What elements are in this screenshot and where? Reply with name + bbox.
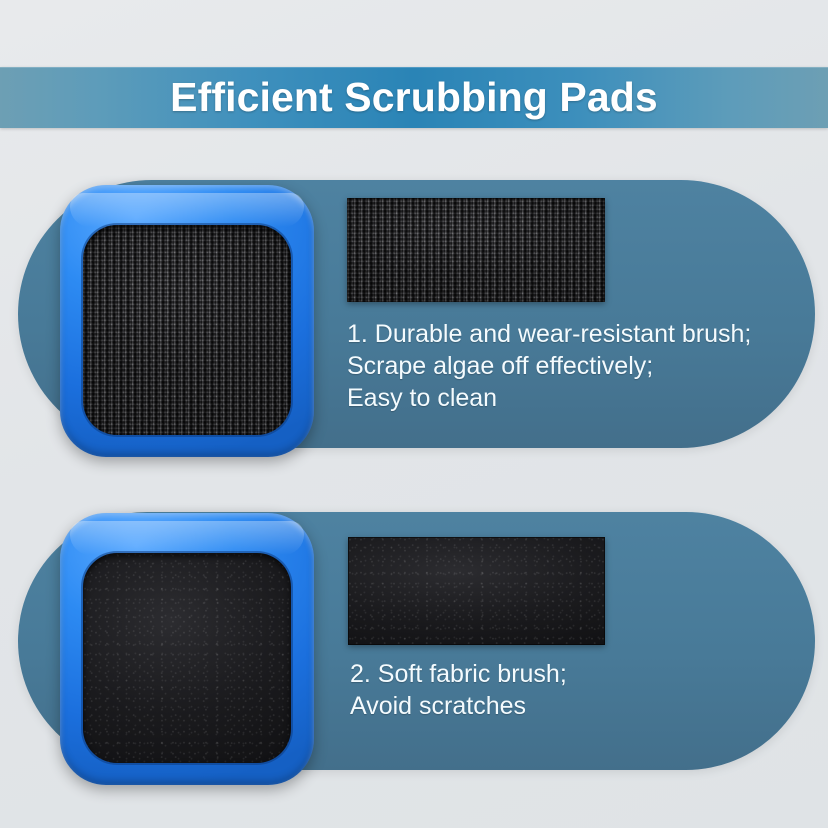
feature-caption-1: 1. Durable and wear-resistant brush; Scr… — [347, 318, 751, 414]
pad-blue-frame — [60, 185, 314, 457]
caption-line: 1. Durable and wear-resistant brush; — [347, 318, 751, 350]
pad-bristle-surface — [83, 225, 291, 435]
caption-line: Easy to clean — [347, 382, 751, 414]
bristle-texture-closeup-image — [347, 198, 605, 302]
caption-line: Scrape algae off effectively; — [347, 350, 751, 382]
scrubbing-pad-fabric-image — [60, 513, 314, 785]
caption-line: 2. Soft fabric brush; — [350, 658, 567, 690]
pad-blue-frame — [60, 513, 314, 785]
fabric-texture-closeup-image — [348, 537, 605, 645]
header-banner: Efficient Scrubbing Pads — [0, 67, 828, 128]
product-infographic: Efficient Scrubbing Pads 1. Durable and … — [0, 0, 828, 828]
page-title: Efficient Scrubbing Pads — [170, 77, 658, 118]
scrubbing-pad-bristle-image — [60, 185, 314, 457]
caption-line: Avoid scratches — [350, 690, 567, 722]
pad-fabric-surface — [83, 553, 291, 763]
feature-caption-2: 2. Soft fabric brush; Avoid scratches — [350, 658, 567, 722]
